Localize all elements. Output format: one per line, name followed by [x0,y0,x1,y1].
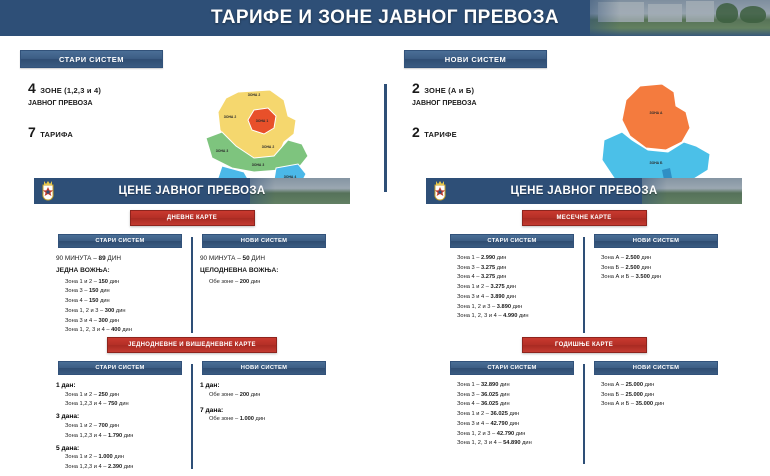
list-item: Зона 4 – 150 дин [56,298,206,305]
list-item: Зона 1 и 2 – 150 дин [56,279,206,286]
page-title: ТАРИФЕ И ЗОНЕ ЈАВНОГ ПРЕВОЗА [0,0,770,36]
multiday-new-system-column: 1 дан: Обе зоне – 200 дин 7 дана: Обе зо… [200,382,350,428]
list-item: 7 дана: Обе зоне – 1.000 дин [200,407,350,424]
list-item: 90 МИНУТА – 50 ДИН [200,255,350,263]
multiday-tickets-badge[interactable]: ЈЕДНОДНЕВНЕ И ВИШЕДНЕВНЕ КАРТЕ [107,337,277,353]
yearly-new-system-header[interactable]: НОВИ СИСТЕМ [594,361,718,375]
monthly-old-system-header[interactable]: СТАРИ СИСТЕМ [450,234,574,248]
list-item: Зона 3 – 36.025 дин [448,392,598,399]
new-zones-number: 2 [412,80,420,96]
list-item: Зона 4 – 3.275 дин [448,274,598,281]
new-zones-label: ЗОНЕ (А и Б) [424,86,474,95]
list-item: Зона 1 и 2 – 1.000 дин [56,454,206,461]
yearly-tickets-badge[interactable]: ГОДИШЊЕ КАРТЕ [522,337,647,353]
monthly-tickets-badge[interactable]: МЕСЕЧНЕ КАРТЕ [522,210,647,226]
new-system-zones-stat: 2 ЗОНЕ (А и Б) ЈАВНОГ ПРЕВОЗА [412,80,477,107]
list-item: Зона 1,2,3 и 4 – 750 дин [56,401,206,408]
list-item: 1 дан: Обе зоне – 200 дин [200,382,350,399]
city-crest-icon [432,181,448,201]
left-panel-title: ЦЕНЕ ЈАВНОГ ПРЕВОЗА [34,178,350,204]
list-item: Обе зоне – 1.000 дин [200,416,350,423]
list-item: ЦЕЛОДНЕВНА ВОЖЊА: [200,267,350,275]
old-system-button[interactable]: СТАРИ СИСТЕМ [20,50,163,68]
monthly-columns: Зона 1 – 2.990 дин Зона 3 – 3.275 дин Зо… [426,255,742,335]
multiday-old-system-header[interactable]: СТАРИ СИСТЕМ [58,361,182,375]
map-label-zone-a: ЗОНА А [649,111,663,115]
list-item: Зона 1, 2 и 3 – 42.790 дин [448,431,598,438]
list-item: Зона 1, 2, 3 и 4 – 54.890 дин [448,440,598,447]
group-title: 3 дана: [56,413,206,420]
summary-vertical-divider [384,84,387,192]
daily-old-system-header[interactable]: СТАРИ СИСТЕМ [58,234,182,248]
list-item: Зона 1 и 2 – 250 дин [56,392,206,399]
list-item: Зона 1 и 2 – 36.025 дин [448,411,598,418]
old-zones-label: ЗОНЕ (1,2,3 и 4) [40,86,101,95]
old-tariffs-number: 7 [28,124,36,140]
old-zones-number: 4 [28,80,36,96]
new-tariffs-number: 2 [412,124,420,140]
old-system-zones-stat: 4 ЗОНЕ (1,2,3 и 4) ЈАВНОГ ПРЕВОЗА [28,80,101,107]
map-label-zone-2-north: ЗОНА 2 [248,93,261,97]
list-item: ЈЕДНА ВОЖЊА: [56,267,206,275]
right-panel-title: ЦЕНЕ ЈАВНОГ ПРЕВОЗА [426,178,742,204]
map-label-zone-b: ЗОНА Б [650,161,664,165]
list-item: Зона 1,2,3 и 4 – 1.790 дин [56,433,206,440]
list-item: Обе зоне – 200 дин [200,279,350,286]
list-item: Зона 3 – 150 дин [56,288,206,295]
list-item: Зона 1 – 32.890 дин [448,382,598,389]
new-system-tariffs-stat: 2 ТАРИФЕ [412,124,457,142]
daily-new-system-header[interactable]: НОВИ СИСТЕМ [202,234,326,248]
map-label-zone-3-west: ЗОНА 3 [216,149,229,153]
list-item: Зона А – 25.000 дин [592,382,742,389]
list-item: 90 МИНУТА – 89 ДИН [56,255,206,263]
list-item: Зона 4 – 36.025 дин [448,401,598,408]
list-item: Обе зоне – 200 дин [200,392,350,399]
list-item: Зона 3 и 4 – 42.790 дин [448,421,598,428]
list-item: Зона 1 – 2.990 дин [448,255,598,262]
yearly-old-system-header[interactable]: СТАРИ СИСТЕМ [450,361,574,375]
list-item: Зона 1, 2, 3 и 4 – 4.990 дин [448,313,598,320]
daily-tickets-columns: 90 МИНУТА – 89 ДИН ЈЕДНА ВОЖЊА: Зона 1 и… [34,255,350,335]
list-item: Зона 3 и 4 – 3.890 дин [448,294,598,301]
new-system-button[interactable]: НОВИ СИСТЕМ [404,50,547,68]
new-tariffs-label: ТАРИФЕ [424,130,457,139]
list-item: Зона 3 – 3.275 дин [448,265,598,272]
group-title: 1 дан: [56,382,206,389]
page-header: ТАРИФЕ И ЗОНЕ ЈАВНОГ ПРЕВОЗА [0,0,770,36]
group-title: 1 дан: [200,382,350,389]
map-label-zone-3-south: ЗОНА 3 [252,163,265,167]
list-item: Зона А – 2.500 дин [592,255,742,262]
old-system-tariffs-stat: 7 ТАРИФА [28,124,73,142]
city-crest-icon [40,181,56,201]
yearly-columns: Зона 1 – 32.890 дин Зона 3 – 36.025 дин … [426,382,742,462]
right-panel-header: ЦЕНЕ ЈАВНОГ ПРЕВОЗА [426,178,742,204]
list-item: Зона 1, 2 и 3 – 3.890 дин [448,304,598,311]
list-item: 5 дана: Зона 1 и 2 – 1.000 дин Зона 1,2,… [56,445,206,471]
list-item: Зона 1, 2, 3 и 4 – 400 дин [56,327,206,334]
daily-tickets-badge[interactable]: ДНЕВНЕ КАРТЕ [130,210,255,226]
map-label-zone-2-west: ЗОНА 2 [224,115,237,119]
list-item: Зона Б – 2.500 дин [592,265,742,272]
monthly-new-system-header[interactable]: НОВИ СИСТЕМ [594,234,718,248]
old-zones-sublabel: ЈАВНОГ ПРЕВОЗА [28,100,101,107]
list-item: 1 дан: Зона 1 и 2 – 250 дин Зона 1,2,3 и… [56,382,206,408]
left-panel-header: ЦЕНЕ ЈАВНОГ ПРЕВОЗА [34,178,350,204]
summary-section: СТАРИ СИСТЕМ 4 ЗОНЕ (1,2,3 и 4) ЈАВНОГ П… [0,36,770,172]
group-title: 7 дана: [200,407,350,414]
daily-new-system-column: 90 МИНУТА – 50 ДИН ЦЕЛОДНЕВНА ВОЖЊА: Обе… [200,255,350,288]
list-item: Зона Б – 25.000 дин [592,392,742,399]
group-title: 5 дана: [56,445,206,452]
list-item: Зона 1 и 2 – 700 дин [56,423,206,430]
list-item: Зона А и Б – 3.500 дин [592,274,742,281]
monthly-old-system-column: Зона 1 – 2.990 дин Зона 3 – 3.275 дин Зо… [448,255,598,323]
list-item: 3 дана: Зона 1 и 2 – 700 дин Зона 1,2,3 … [56,413,206,439]
multiday-old-system-column: 1 дан: Зона 1 и 2 – 250 дин Зона 1,2,3 и… [56,382,206,476]
yearly-old-system-column: Зона 1 – 32.890 дин Зона 3 – 36.025 дин … [448,382,598,450]
list-item: Зона 1 и 2 – 3.275 дин [448,284,598,291]
list-item: Зона 3 и 4 – 300 дин [56,318,206,325]
monthly-new-system-column: Зона А – 2.500 дин Зона Б – 2.500 дин Зо… [592,255,742,284]
daily-old-system-column: 90 МИНУТА – 89 ДИН ЈЕДНА ВОЖЊА: Зона 1 и… [56,255,206,337]
old-tariffs-label: ТАРИФА [40,130,73,139]
yearly-new-system-column: Зона А – 25.000 дин Зона Б – 25.000 дин … [592,382,742,411]
monthly-yearly-tickets-panel: ЦЕНЕ ЈАВНОГ ПРЕВОЗА МЕСЕЧНЕ КАРТЕ СТАРИ … [426,178,742,462]
new-zones-sublabel: ЈАВНОГ ПРЕВОЗА [412,100,477,107]
map-label-zone-2-south: ЗОНА 2 [262,145,275,149]
list-item: Зона 1, 2 и 3 – 300 дин [56,308,206,315]
list-item: Зона 1,2,3 и 4 – 2.390 дин [56,464,206,471]
daily-tickets-panel: ЦЕНЕ ЈАВНОГ ПРЕВОЗА ДНЕВНЕ КАРТЕ СТАРИ С… [34,178,350,472]
multiday-columns: 1 дан: Зона 1 и 2 – 250 дин Зона 1,2,3 и… [34,382,350,472]
multiday-new-system-header[interactable]: НОВИ СИСТЕМ [202,361,326,375]
map-label-zone-1: ЗОНА 1 [256,119,269,123]
list-item: Зона А и Б – 35.000 дин [592,401,742,408]
